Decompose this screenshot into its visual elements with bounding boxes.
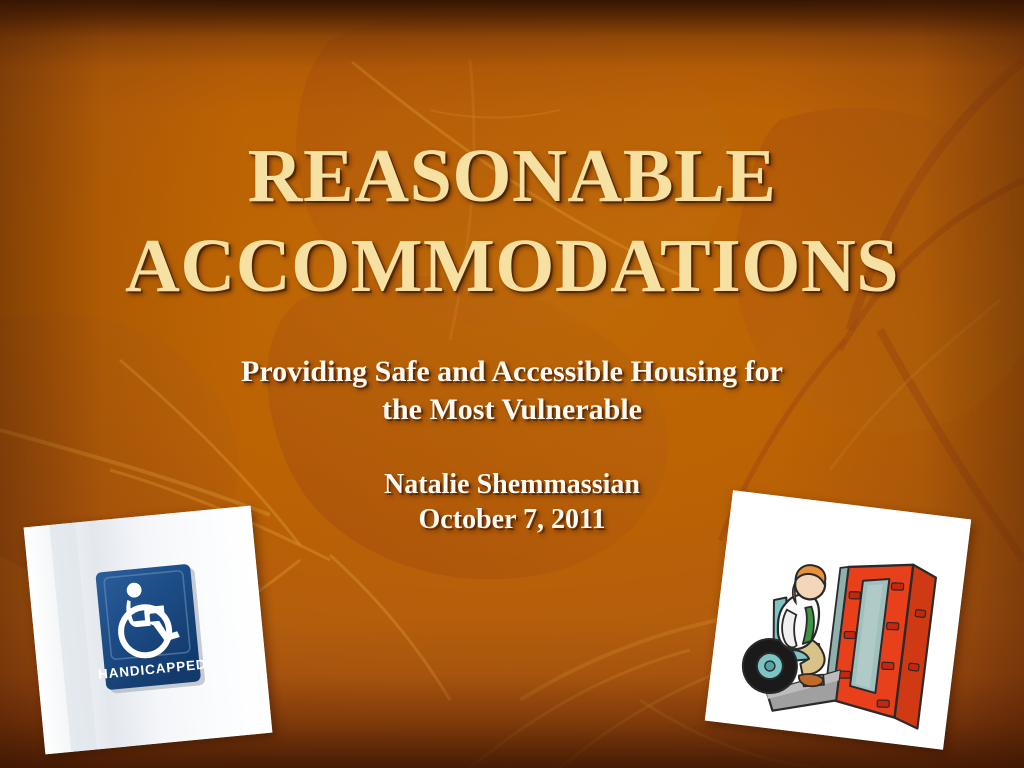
handicapped-sign-photo[interactable]: HANDICAPPED — [24, 506, 273, 755]
presenter-name: Natalie Shemmassian — [0, 467, 1024, 502]
slide-subtitle-line-1: Providing Safe and Accessible Housing fo… — [0, 353, 1024, 391]
wheelchair-ramp-clipart[interactable] — [705, 490, 971, 750]
slide-title-line-2: ACCOMMODATIONS — [0, 222, 1024, 312]
slide-title: REASONABLE ACCOMMODATIONS — [0, 132, 1024, 311]
slide-title-line-1: REASONABLE — [0, 132, 1024, 222]
presentation-slide: REASONABLE ACCOMMODATIONS Providing Safe… — [0, 0, 1024, 768]
slide-subtitle-line-2: the Most Vulnerable — [0, 391, 1024, 429]
slide-subtitle: Providing Safe and Accessible Housing fo… — [0, 353, 1024, 429]
